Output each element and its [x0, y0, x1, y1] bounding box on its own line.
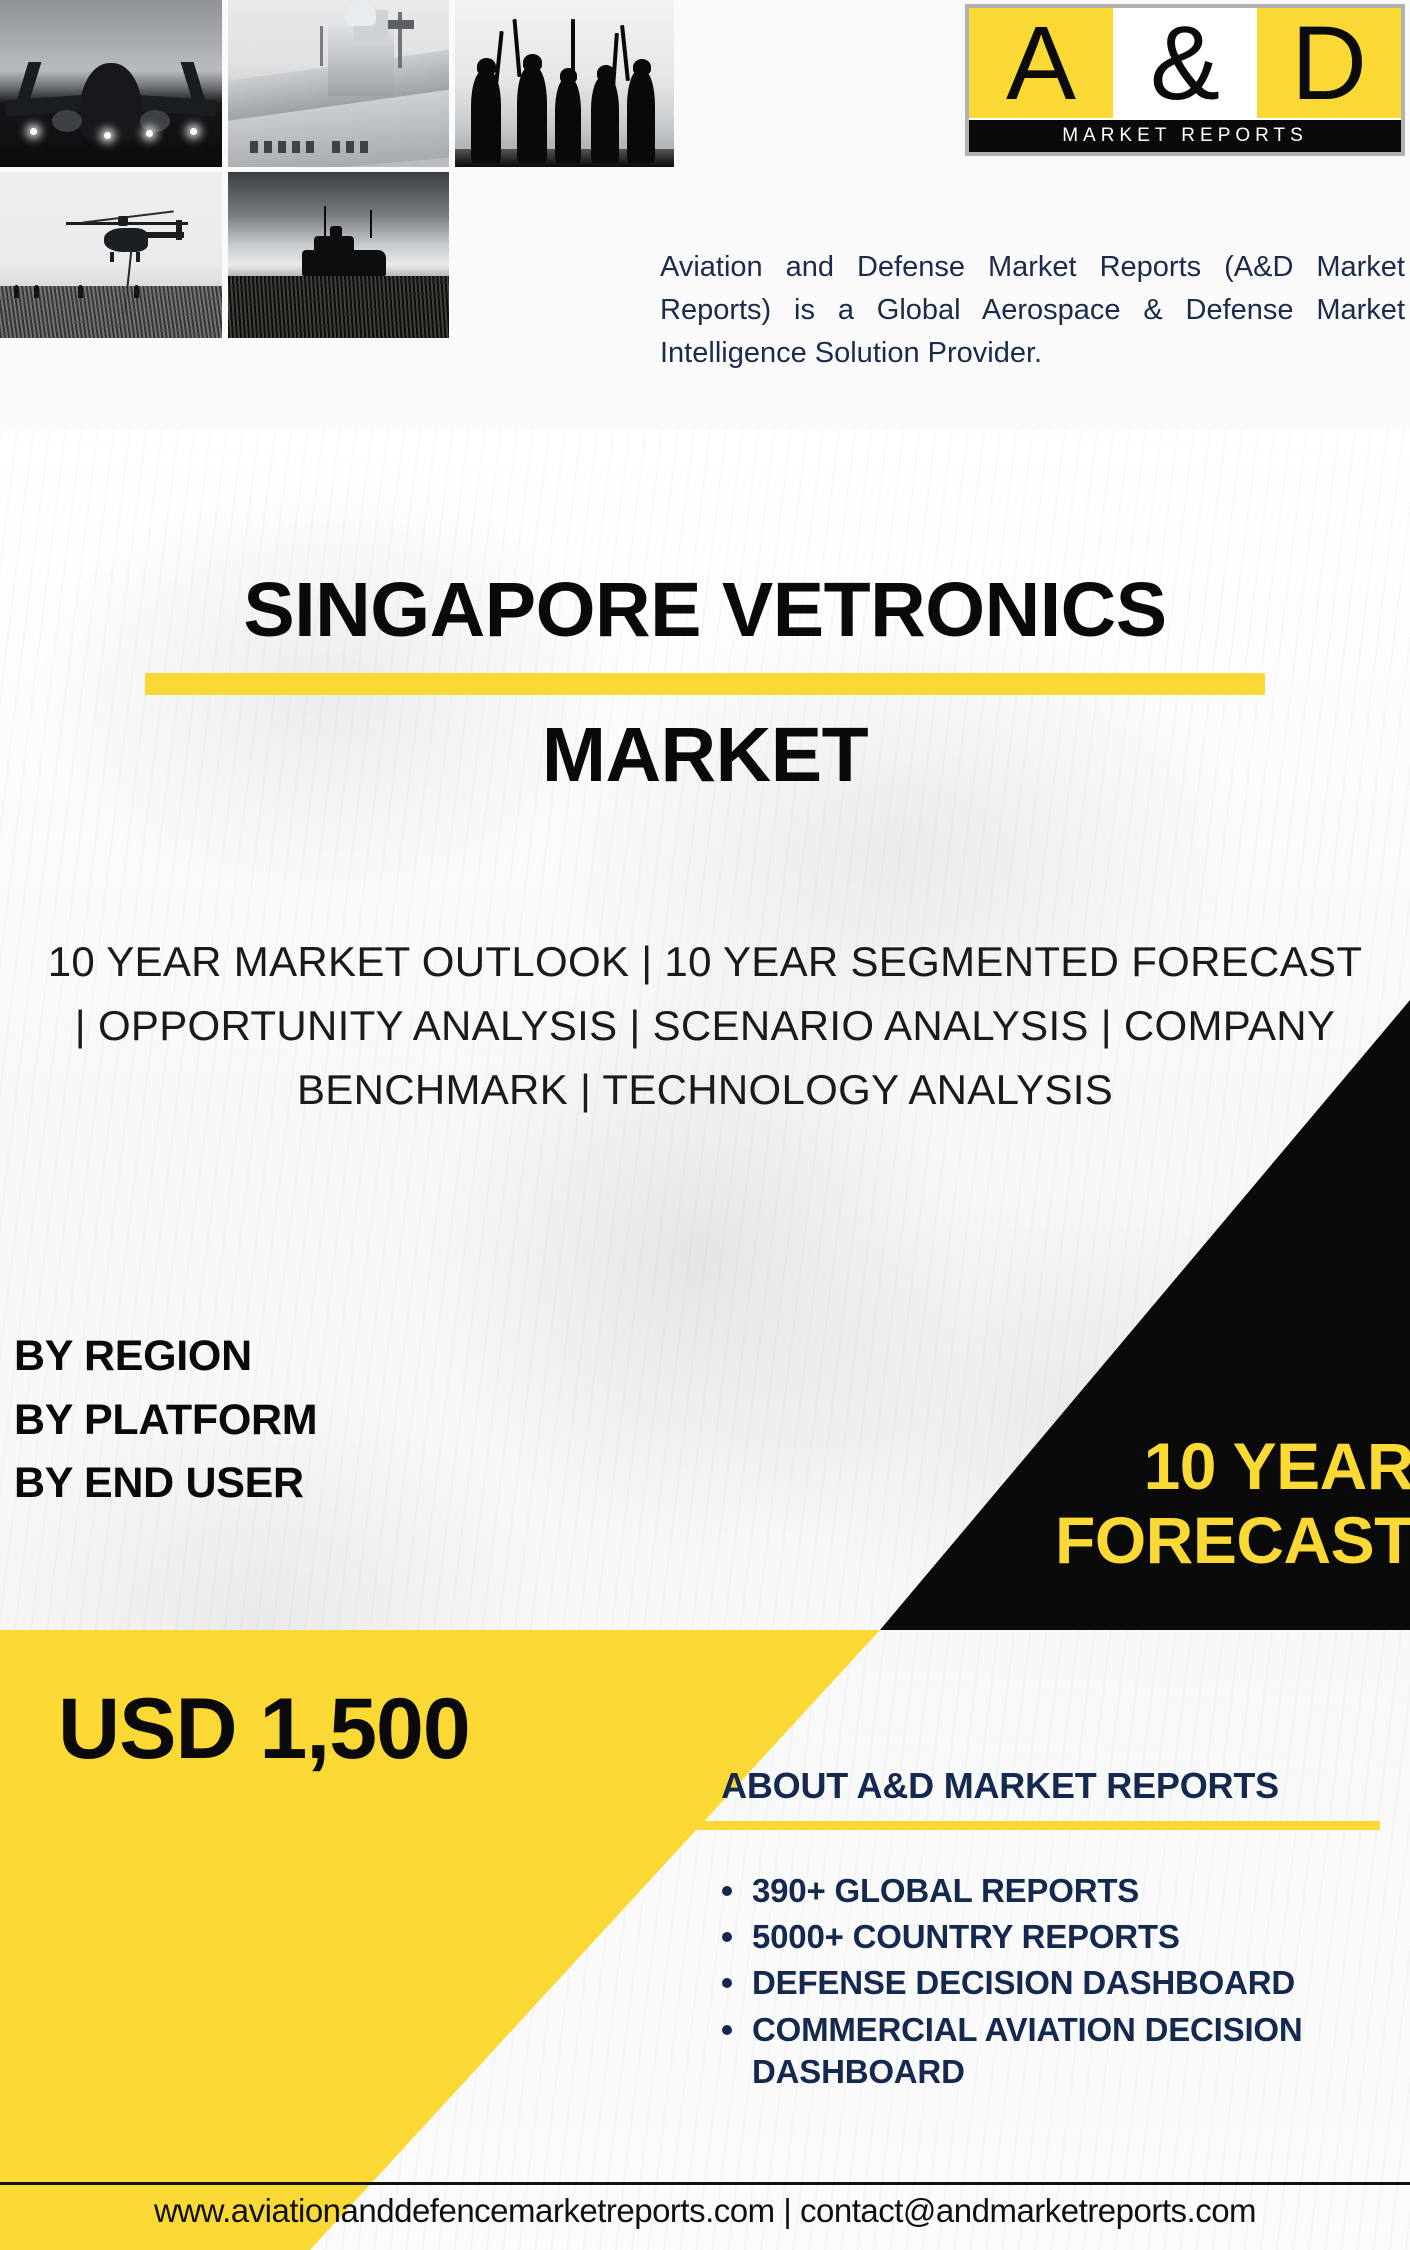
armored-vehicle-image	[228, 172, 449, 338]
logo-subtitle-text: MARKET REPORTS	[1062, 125, 1308, 147]
report-title: SINGAPORE VETRONICS MARKET	[0, 570, 1410, 796]
price-value: USD 1,500	[58, 1680, 470, 1779]
segment-item-end-user: BY END USER	[14, 1452, 317, 1516]
footer-contact[interactable]: www.aviationanddefencemarketreports.com …	[0, 2192, 1410, 2230]
report-title-line2: MARKET	[0, 715, 1410, 796]
forecast-badge-line2: FORECAST	[854, 1504, 1410, 1578]
about-section: ABOUT A&D MARKET REPORTS	[620, 1765, 1380, 1830]
list-item: 5000+ COUNTRY REPORTS	[716, 1916, 1406, 1958]
helicopter-image	[0, 172, 222, 338]
list-item: 390+ GLOBAL REPORTS	[716, 1870, 1406, 1912]
title-underline-rule	[145, 673, 1265, 695]
report-title-line1: SINGAPORE VETRONICS	[0, 570, 1410, 651]
aircraft-carrier-image	[228, 0, 449, 167]
logo-subtitle-bar: MARKET REPORTS	[969, 120, 1401, 152]
logo-letter-a: A	[1006, 11, 1076, 116]
about-underline-rule	[650, 1821, 1380, 1830]
about-heading: ABOUT A&D MARKET REPORTS	[620, 1765, 1380, 1807]
logo-cell-a: A	[969, 8, 1113, 118]
logo-letter-ampersand: &	[1150, 11, 1220, 116]
fighter-jet-image	[0, 0, 222, 167]
about-bullet-list: 390+ GLOBAL REPORTS 5000+ COUNTRY REPORT…	[716, 1870, 1406, 2097]
logo-cell-d: D	[1257, 8, 1401, 118]
poster-root: A & D MARKET REPORTS Aviation and Defens…	[0, 0, 1410, 2250]
logo-letter-d: D	[1291, 11, 1367, 116]
company-description: Aviation and Defense Market Reports (A&D…	[660, 246, 1405, 375]
brand-logo: A & D MARKET REPORTS	[965, 4, 1405, 156]
list-item: COMMERCIAL AVIATION DECISION DASHBOARD	[716, 2009, 1406, 2093]
logo-letter-row: A & D	[969, 8, 1401, 118]
logo-cell-ampersand: &	[1113, 8, 1257, 118]
forecast-badge-line1: 10 YEAR	[854, 1430, 1410, 1504]
segmentation-list: BY REGION BY PLATFORM BY END USER	[14, 1325, 317, 1516]
segment-item-region: BY REGION	[14, 1325, 317, 1389]
segment-item-platform: BY PLATFORM	[14, 1389, 317, 1453]
report-subtitle: 10 YEAR MARKET OUTLOOK | 10 YEAR SEGMENT…	[40, 930, 1370, 1121]
photo-grid	[0, 0, 674, 340]
soldiers-silhouette-image	[455, 0, 674, 167]
list-item: DEFENSE DECISION DASHBOARD	[716, 1962, 1406, 2004]
forecast-badge: 10 YEAR FORECAST	[854, 1430, 1410, 1578]
footer-divider	[0, 2182, 1410, 2185]
